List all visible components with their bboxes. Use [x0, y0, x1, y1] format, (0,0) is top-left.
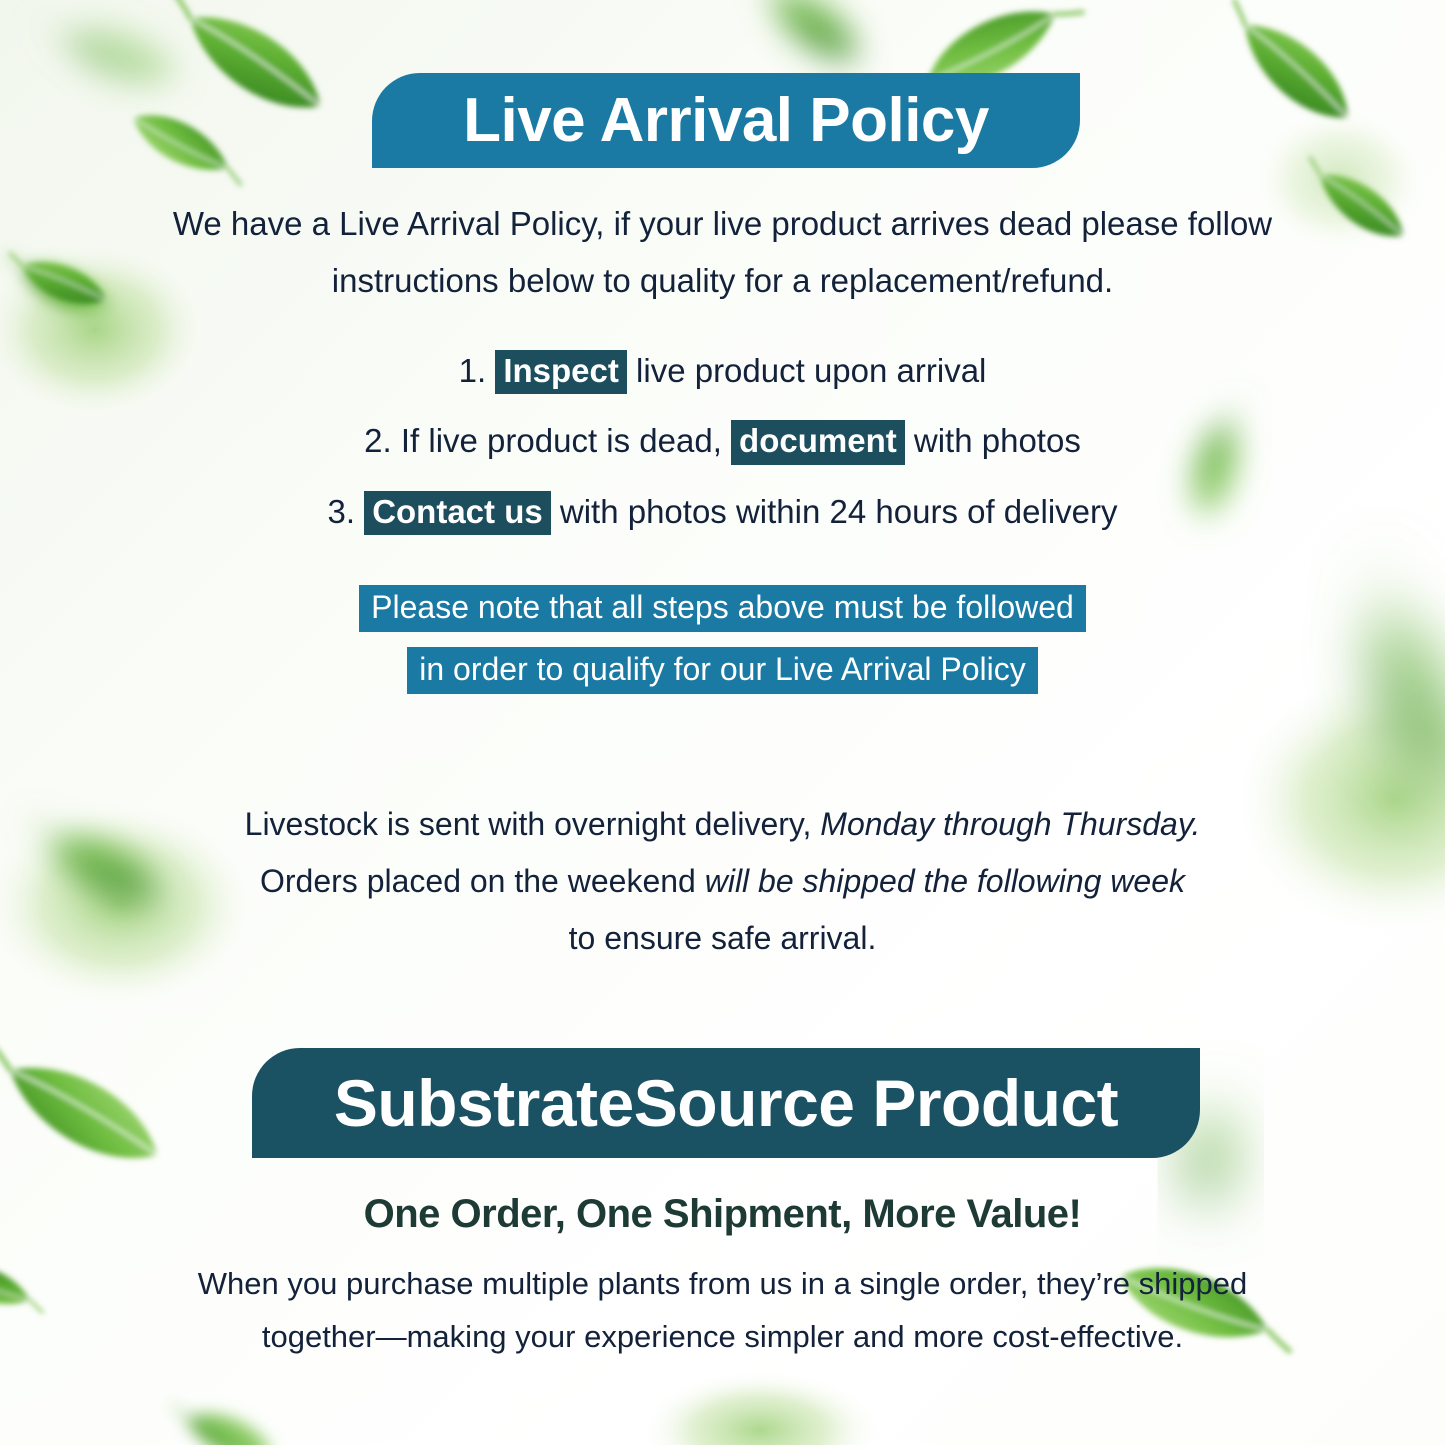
policy-intro-paragraph: We have a Live Arrival Policy, if your l… [150, 196, 1295, 310]
step-2-pretext: If live product is dead, [401, 422, 722, 459]
value-proposition-paragraph: When you purchase multiple plants from u… [170, 1258, 1275, 1363]
step-2-number: 2. [364, 422, 392, 459]
step-3-highlight[interactable]: Contact us [364, 491, 551, 535]
policy-intro-line-2: instructions below to quality for a repl… [332, 262, 1113, 299]
substratesource-product-title: SubstrateSource Product [334, 1065, 1118, 1141]
shipping-line-1-plain: Livestock is sent with overnight deliver… [245, 806, 821, 842]
step-2-highlight: document [731, 420, 905, 464]
shipping-line-1-italic: Monday through Thursday. [820, 806, 1200, 842]
step-1-text: live product upon arrival [636, 352, 986, 389]
policy-note-line-2: in order to qualify for our Live Arrival… [407, 647, 1037, 694]
livestock-shipping-paragraph: Livestock is sent with overnight deliver… [200, 796, 1245, 967]
value-body-line-1: When you purchase multiple plants from u… [198, 1266, 1247, 1301]
live-arrival-policy-title: Live Arrival Policy [463, 85, 989, 156]
value-body-line-2: together—making your experience simpler … [262, 1319, 1183, 1354]
value-proposition-heading: One Order, One Shipment, More Value! [170, 1192, 1275, 1237]
step-1-highlight: Inspect [495, 350, 627, 394]
shipping-line-2-italic: will be shipped the following week [705, 863, 1185, 899]
policy-intro-line-1: We have a Live Arrival Policy, if your l… [173, 205, 1272, 242]
shipping-line-3: to ensure safe arrival. [569, 920, 877, 956]
step-1-number: 1. [459, 352, 487, 389]
step-3-number: 3. [327, 493, 355, 530]
policy-note-block: Please note that all steps above must be… [170, 585, 1275, 709]
policy-step-3: 3. Contact us with photos within 24 hour… [170, 491, 1275, 535]
step-3-text: with photos within 24 hours of delivery [560, 493, 1118, 530]
policy-note-row-2: in order to qualify for our Live Arrival… [170, 647, 1275, 694]
substratesource-product-banner: SubstrateSource Product [252, 1048, 1200, 1158]
policy-steps-list: 1. Inspect live product upon arrival 2. … [170, 350, 1275, 561]
live-arrival-policy-banner: Live Arrival Policy [372, 73, 1080, 168]
policy-note-line-1: Please note that all steps above must be… [359, 585, 1086, 632]
policy-note-row-1: Please note that all steps above must be… [170, 585, 1275, 632]
shipping-line-2-plain: Orders placed on the weekend [260, 863, 705, 899]
policy-step-1: 1. Inspect live product upon arrival [170, 350, 1275, 394]
policy-step-2: 2. If live product is dead, document wit… [170, 420, 1275, 464]
step-2-text: with photos [914, 422, 1081, 459]
